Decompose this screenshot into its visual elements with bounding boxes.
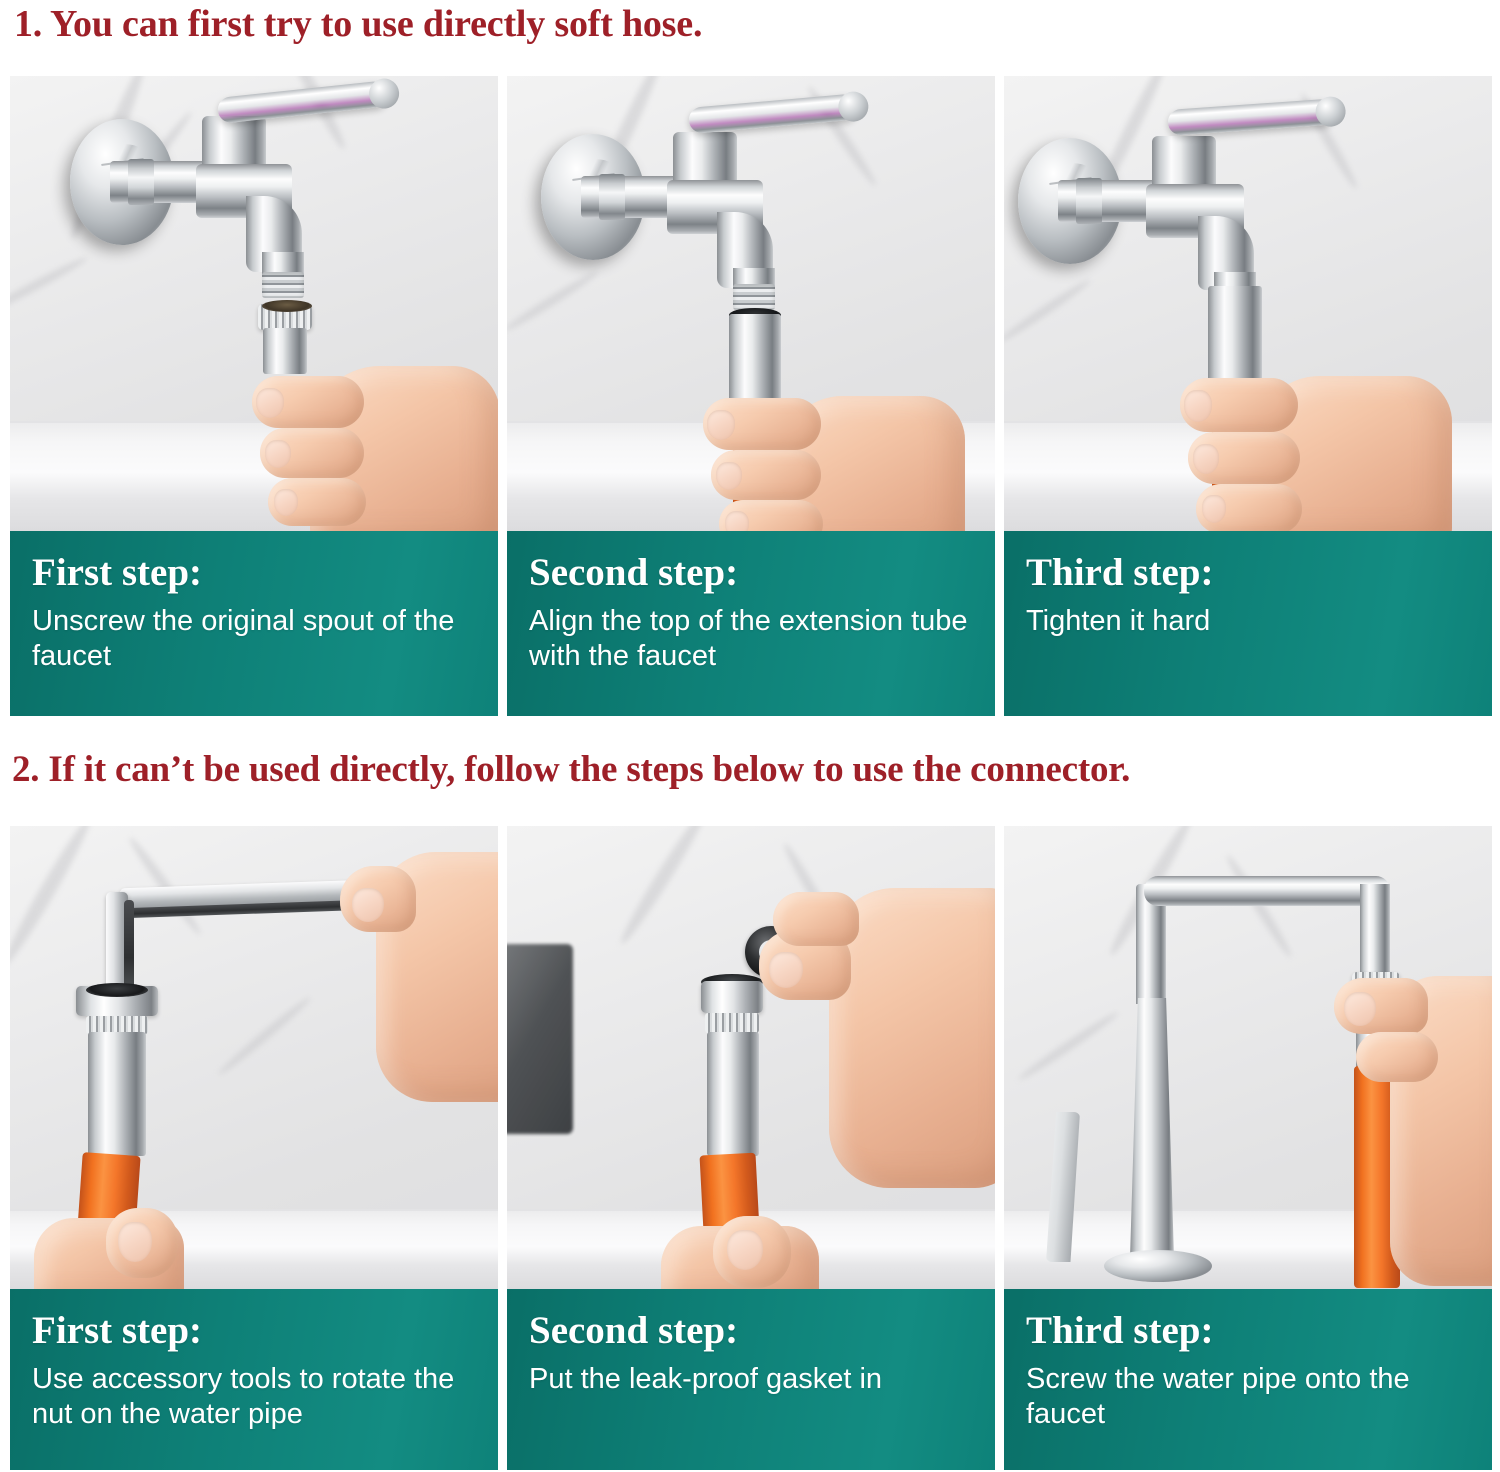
fingernail (256, 388, 284, 418)
step-title: Second step: (529, 553, 975, 592)
fingernail (725, 511, 749, 531)
faucet-arc-right (1360, 884, 1390, 976)
nut-opening (86, 983, 148, 997)
step-panel-2-2: Second step: Put the leak-proof gasket i… (507, 826, 995, 1470)
hex-key-shadow (124, 900, 134, 996)
thumbnail (352, 888, 384, 922)
fingernail (707, 410, 735, 440)
step-panel-2-1: First step: Use accessory tools to rotat… (10, 826, 498, 1470)
fingernail (716, 462, 742, 490)
index-finger (1180, 378, 1298, 432)
thumb (713, 1216, 791, 1288)
middle-finger (260, 428, 364, 478)
background-appliance (507, 944, 573, 1134)
pipe-collar (1076, 178, 1102, 224)
photo-hex-key (10, 826, 498, 1289)
middle-finger (1188, 432, 1300, 484)
fingernail (265, 440, 291, 468)
thumbnail (727, 1230, 763, 1270)
step-body: Tighten it hard (1026, 604, 1472, 639)
spout-thread (262, 272, 304, 298)
step-panel-1-1: First step: Unscrew the original spout o… (10, 76, 498, 716)
faucet-arc-top (1144, 876, 1390, 906)
index-finger (773, 892, 859, 946)
thumb (106, 1208, 178, 1278)
step-panel-2-3: Third step: Screw the water pipe onto th… (1004, 826, 1492, 1470)
faucet-lever-handle[interactable] (1167, 98, 1334, 136)
pipe-collar (599, 174, 625, 220)
lever-tip (1315, 96, 1347, 128)
step-title: First step: (32, 1311, 478, 1350)
caption-1-2: Second step: Align the top of the extens… (507, 531, 995, 716)
photo-screw-pipe (1004, 826, 1492, 1289)
fingernail (1193, 444, 1219, 474)
fingernail (274, 489, 298, 516)
index-finger (252, 376, 364, 428)
thumb (340, 866, 416, 932)
photo-tighten (1004, 76, 1492, 531)
ring-finger (719, 500, 823, 531)
section-1-heading: 1. You can first try to use directly sof… (14, 2, 702, 46)
ring-finger (268, 478, 366, 526)
connector-barrel (707, 1032, 759, 1156)
step-body: Put the leak-proof gasket in (529, 1362, 975, 1397)
photo-unscrew-spout (10, 76, 498, 531)
section-2-heading: 2. If it can’t be used directly, follow … (12, 748, 1130, 791)
step-panel-1-3: Third step: Tighten it hard (1004, 76, 1492, 716)
step-title: Third step: (1026, 553, 1472, 592)
section-2-panel-row: First step: Use accessory tools to rotat… (10, 826, 1492, 1470)
fingernail (1184, 390, 1212, 422)
thumbnail (769, 952, 803, 988)
index-finger (1356, 1032, 1438, 1082)
connector-threads (705, 1013, 759, 1033)
adapter-barrel (263, 328, 307, 374)
chrome-nut (701, 981, 763, 1013)
adapter-screen (262, 300, 312, 312)
faucet-lever-handle[interactable] (688, 93, 858, 134)
lever-tip (368, 77, 401, 110)
caption-1-3: Third step: Tighten it hard (1004, 531, 1492, 716)
step-body: Unscrew the original spout of the faucet (32, 604, 478, 675)
faucet-column (1130, 998, 1174, 1258)
step-body: Align the top of the extension tube with… (529, 604, 975, 675)
middle-finger (711, 450, 821, 500)
step-body: Use accessory tools to rotate the nut on… (32, 1362, 478, 1433)
connector-barrel (88, 1032, 146, 1156)
index-finger (703, 398, 821, 450)
faucet-base (1104, 1250, 1212, 1282)
spout-thread (733, 284, 775, 310)
step-title: Third step: (1026, 1311, 1472, 1350)
step-body: Screw the water pipe onto the faucet (1026, 1362, 1472, 1433)
lever-tip (837, 90, 870, 123)
section-1-panel-row: First step: Unscrew the original spout o… (10, 76, 1492, 716)
ring-finger (1196, 484, 1302, 531)
fingernail (1202, 495, 1226, 523)
thumbnail (118, 1222, 152, 1262)
faucet-lever-handle[interactable] (217, 80, 389, 124)
step-title: First step: (32, 553, 478, 592)
photo-gasket (507, 826, 995, 1289)
caption-2-2: Second step: Put the leak-proof gasket i… (507, 1289, 995, 1470)
step-title: Second step: (529, 1311, 975, 1350)
caption-1-1: First step: Unscrew the original spout o… (10, 531, 498, 716)
thumb (1334, 978, 1428, 1034)
pipe-collar (128, 159, 154, 205)
step-panel-1-2: Second step: Align the top of the extens… (507, 76, 995, 716)
thumbnail (1344, 992, 1376, 1026)
caption-2-3: Third step: Screw the water pipe onto th… (1004, 1289, 1492, 1470)
photo-align-tube (507, 76, 995, 531)
caption-2-1: First step: Use accessory tools to rotat… (10, 1289, 498, 1470)
